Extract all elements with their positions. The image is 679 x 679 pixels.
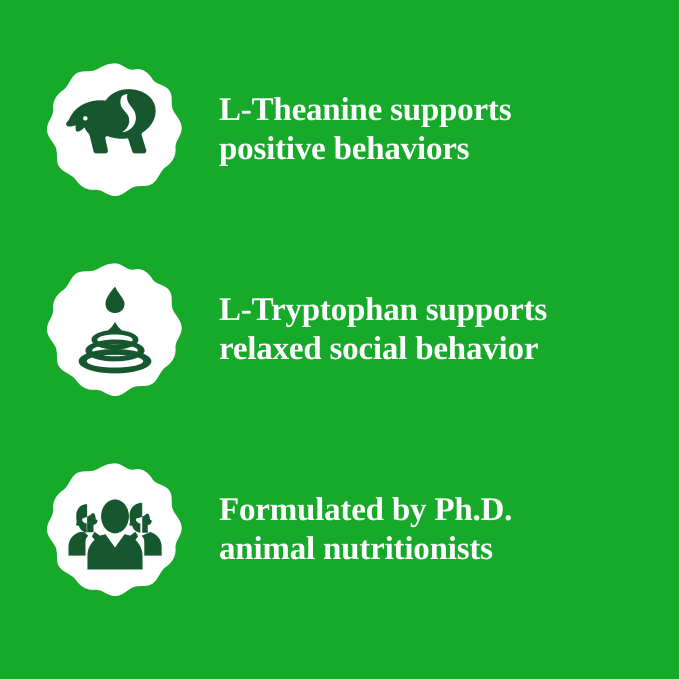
feature-line-1: L-Tryptophan supports [219, 291, 547, 330]
feature-row-l-tryptophan: L-Tryptophan supports relaxed social beh… [0, 262, 679, 398]
feature-row-phd-nutritionists: Formulated by Ph.D. animal nutritionists [0, 462, 679, 598]
feature-line-2: relaxed social behavior [219, 330, 547, 369]
feature-line-2: animal nutritionists [219, 530, 512, 569]
feature-line-2: positive behaviors [219, 130, 511, 169]
feature-line-1: L-Theanine supports [219, 91, 511, 130]
feature-callout-panel: L-Theanine supports positive behaviors [0, 0, 679, 679]
feature-text-l-tryptophan: L-Tryptophan supports relaxed social beh… [219, 291, 547, 369]
feature-row-l-theanine: L-Theanine supports positive behaviors [0, 62, 679, 198]
badge-phd-nutritionists [47, 462, 183, 598]
feature-line-1: Formulated by Ph.D. [219, 491, 512, 530]
feature-text-phd-nutritionists: Formulated by Ph.D. animal nutritionists [219, 491, 512, 569]
feature-text-l-theanine: L-Theanine supports positive behaviors [219, 91, 511, 169]
badge-l-tryptophan [47, 262, 183, 398]
badge-l-theanine [47, 62, 183, 198]
